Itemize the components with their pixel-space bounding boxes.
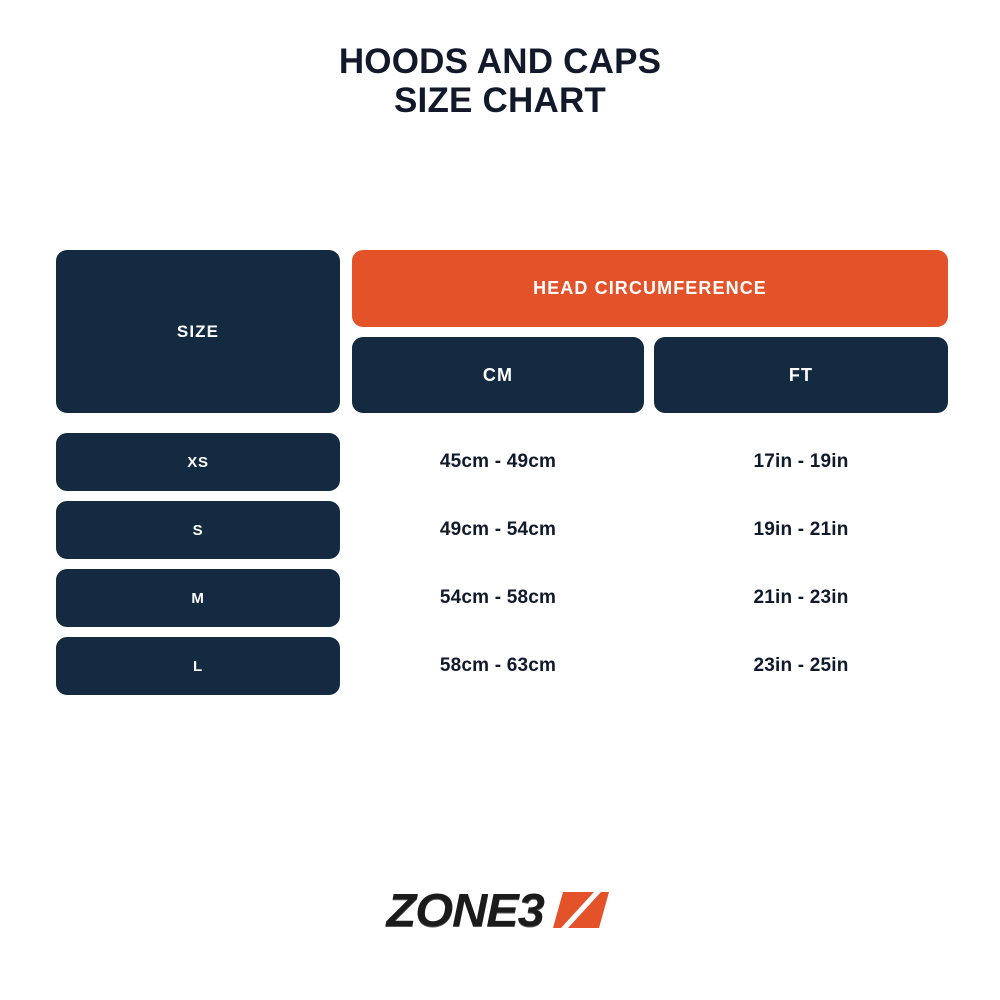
row-size-label: S [193,522,204,539]
table-header: SIZE HEAD CIRCUMFERENCE CM FT [56,250,948,423]
row-cm-value: 45cm - 49cm [352,433,644,491]
table-row: M 54cm - 58cm 21in - 23in [56,569,948,627]
page-title: HOODS AND CAPS SIZE CHART [0,42,1000,120]
title-line-1: HOODS AND CAPS [0,42,1000,81]
row-size-cell: M [56,569,340,627]
header-cell-cm: CM [352,337,644,413]
table-row: L 58cm - 63cm 23in - 25in [56,637,948,695]
header-label-size: SIZE [177,322,219,342]
row-ft-value: 21in - 23in [654,569,948,627]
header-label-ft: FT [789,365,813,386]
row-cm-value: 58cm - 63cm [352,637,644,695]
header-cell-size: SIZE [56,250,340,413]
header-cell-head-circumference: HEAD CIRCUMFERENCE [352,250,948,327]
row-ft-value: 19in - 21in [654,501,948,559]
brand-logo: ZONE3 [0,875,1000,945]
header-label-head-circumference: HEAD CIRCUMFERENCE [533,278,767,299]
row-size-label: L [193,658,203,675]
size-chart-page: HOODS AND CAPS SIZE CHART SIZE HEAD CIRC… [0,0,1000,1000]
header-cell-ft: FT [654,337,948,413]
row-size-label: XS [187,454,209,471]
table-row: XS 45cm - 49cm 17in - 19in [56,433,948,491]
row-cm-value: 54cm - 58cm [352,569,644,627]
row-size-label: M [191,590,204,607]
row-ft-value: 17in - 19in [654,433,948,491]
header-label-cm: CM [483,365,513,386]
z-slash-mark-icon [553,888,609,932]
row-size-cell: XS [56,433,340,491]
row-size-cell: S [56,501,340,559]
row-cm-value: 49cm - 54cm [352,501,644,559]
row-size-cell: L [56,637,340,695]
table-row: S 49cm - 54cm 19in - 21in [56,501,948,559]
size-chart-table: SIZE HEAD CIRCUMFERENCE CM FT XS 45cm - … [56,250,948,705]
table-body: XS 45cm - 49cm 17in - 19in S 49cm - 54cm… [56,433,948,695]
logo-wordmark: ZONE3 [386,883,543,937]
row-ft-value: 23in - 25in [654,637,948,695]
title-line-2: SIZE CHART [0,81,1000,120]
